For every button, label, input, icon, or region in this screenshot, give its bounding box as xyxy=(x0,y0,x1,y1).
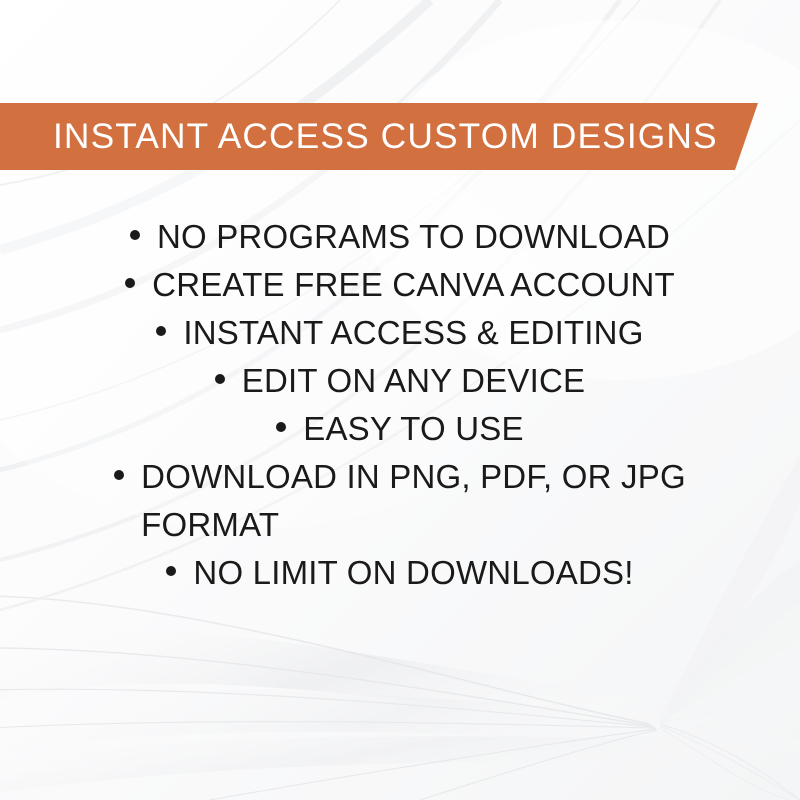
list-item-label: EASY TO USE xyxy=(303,405,523,453)
bullet-dot-icon xyxy=(130,230,140,240)
promo-graphic-canvas: INSTANT ACCESS CUSTOM DESIGNS NO PROGRAM… xyxy=(0,0,800,800)
list-item-label: NO PROGRAMS TO DOWNLOAD xyxy=(157,213,670,261)
bullet-dot-icon xyxy=(125,278,135,288)
list-item-label: NO LIMIT ON DOWNLOADS! xyxy=(193,549,633,597)
bullet-dot-icon xyxy=(215,374,225,384)
list-item: NO LIMIT ON DOWNLOADS! xyxy=(166,549,633,597)
list-item-label: CREATE FREE CANVA ACCOUNT xyxy=(152,261,675,309)
bullet-dot-icon xyxy=(156,326,166,336)
page-title: INSTANT ACCESS CUSTOM DESIGNS xyxy=(53,103,718,170)
list-item: EASY TO USE xyxy=(276,405,523,453)
list-item: NO PROGRAMS TO DOWNLOAD xyxy=(130,213,670,261)
bullet-dot-icon xyxy=(166,566,176,576)
header-banner: INSTANT ACCESS CUSTOM DESIGNS xyxy=(0,103,758,170)
list-item: CREATE FREE CANVA ACCOUNT xyxy=(125,261,675,309)
list-item-label: DOWNLOAD IN PNG, PDF, OR JPG FORMAT xyxy=(141,453,686,549)
bullet-dot-icon xyxy=(114,470,124,480)
bullet-dot-icon xyxy=(276,422,286,432)
feature-list: NO PROGRAMS TO DOWNLOAD CREATE FREE CANV… xyxy=(0,213,800,597)
list-item: DOWNLOAD IN PNG, PDF, OR JPG FORMAT xyxy=(114,453,686,549)
list-item-label: EDIT ON ANY DEVICE xyxy=(242,357,585,405)
list-item: EDIT ON ANY DEVICE xyxy=(215,357,585,405)
list-item-label: INSTANT ACCESS & EDITING xyxy=(183,309,643,357)
list-item: INSTANT ACCESS & EDITING xyxy=(156,309,643,357)
